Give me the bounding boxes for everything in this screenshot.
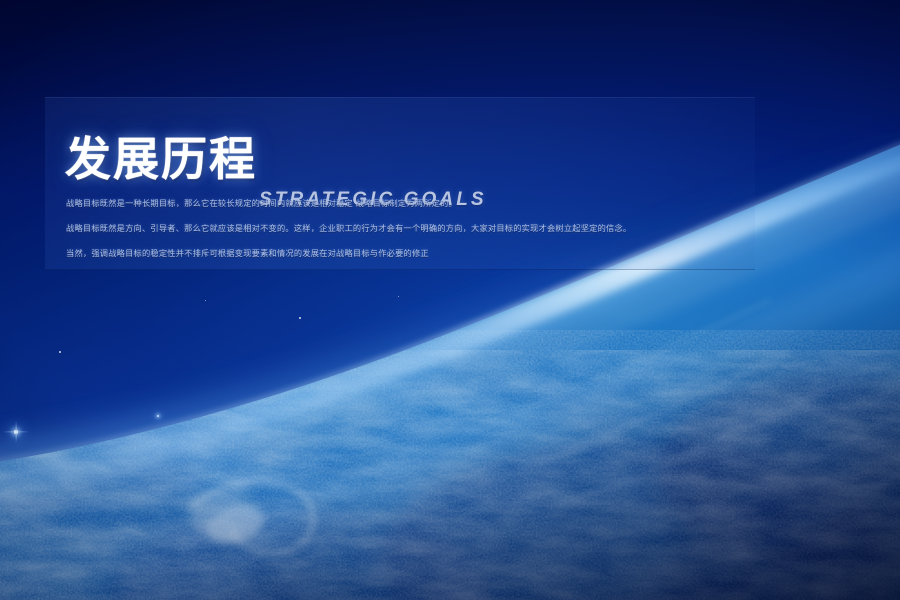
vignette-overlay: [0, 0, 900, 600]
body-copy: 战略目标既然是一种长期目标，那么它在较长规定的时间内就应该是相对稳定 战略目标制…: [66, 187, 738, 269]
page-title: 发展历程: [65, 136, 257, 182]
body-line-1: 战略目标既然是一种长期目标，那么它在较长规定的时间内就应该是相对稳定 战略目标制…: [66, 195, 738, 212]
body-line-2: 战略目标既然是方向、引导者、那么它就应该是相对不变的。这样，企业职工的行为才会有…: [66, 220, 738, 237]
body-line-3: 当然，强调战略目标的稳定性并不排斥可根据变现要素和情况的发展在对战略目标与作必要…: [66, 245, 738, 262]
banner-canvas: 发展历程 STRATEGIC GOALS 战略目标既然是一种长期目标，那么它在较…: [0, 0, 900, 600]
content-panel: 发展历程 STRATEGIC GOALS 战略目标既然是一种长期目标，那么它在较…: [45, 97, 755, 270]
